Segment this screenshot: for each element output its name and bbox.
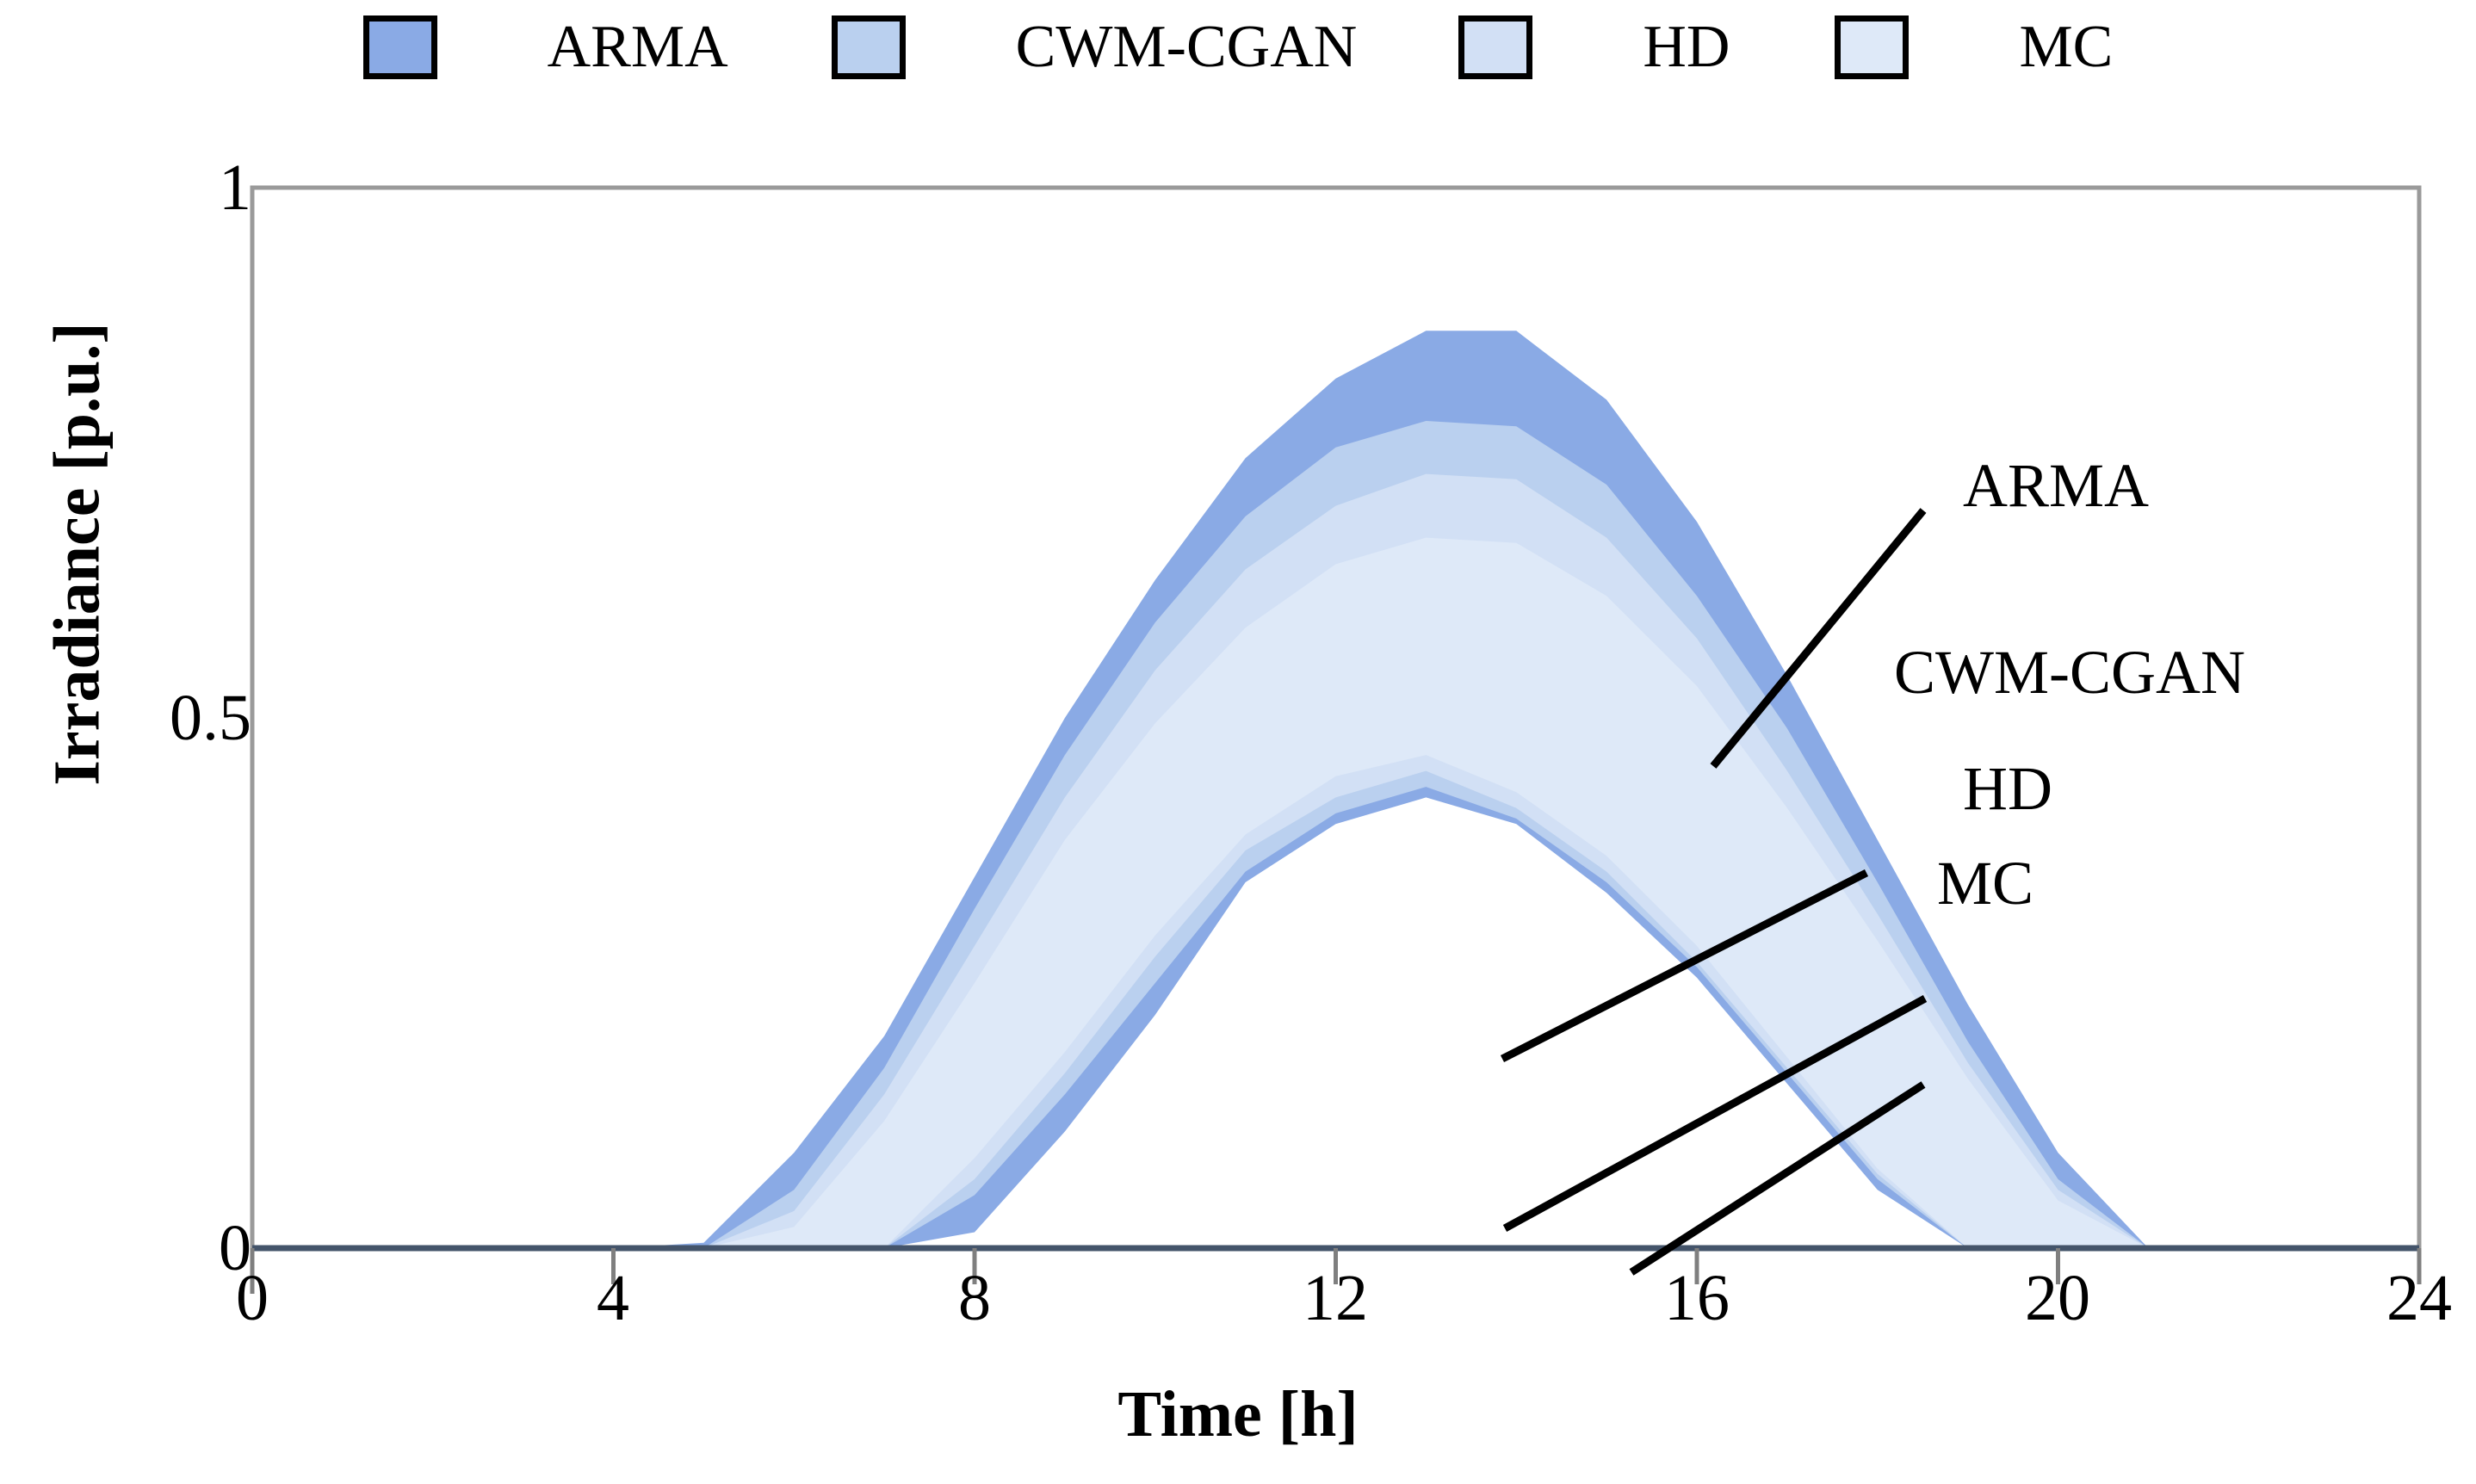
annotation-cwm-cgan: CWM-CGAN	[1894, 641, 2245, 703]
x-tick-label-0: 0	[166, 1265, 338, 1331]
y-tick-label-0-5: 0.5	[79, 685, 251, 751]
plot-area	[0, 0, 2476, 1484]
x-tick-label-24: 24	[2333, 1265, 2476, 1331]
y-axis-title: Irradiance [p.u.]	[40, 227, 115, 881]
x-tick-label-4: 4	[527, 1265, 699, 1331]
annotation-hd: HD	[1963, 757, 2052, 819]
x-axis-title: Time [h]	[0, 1377, 2476, 1452]
annotation-arma: ARMA	[1963, 454, 2149, 516]
x-tick-label-12: 12	[1249, 1265, 1421, 1331]
x-tick-label-8: 8	[888, 1265, 1061, 1331]
y-tick-label-1: 1	[79, 155, 251, 220]
annotation-mc: MC	[1937, 852, 2033, 914]
x-tick-label-20: 20	[1972, 1265, 2144, 1331]
x-tick-label-16: 16	[1611, 1265, 1783, 1331]
irradiance-band-chart: ARMA CWM-CGAN HD MC	[0, 0, 2476, 1484]
